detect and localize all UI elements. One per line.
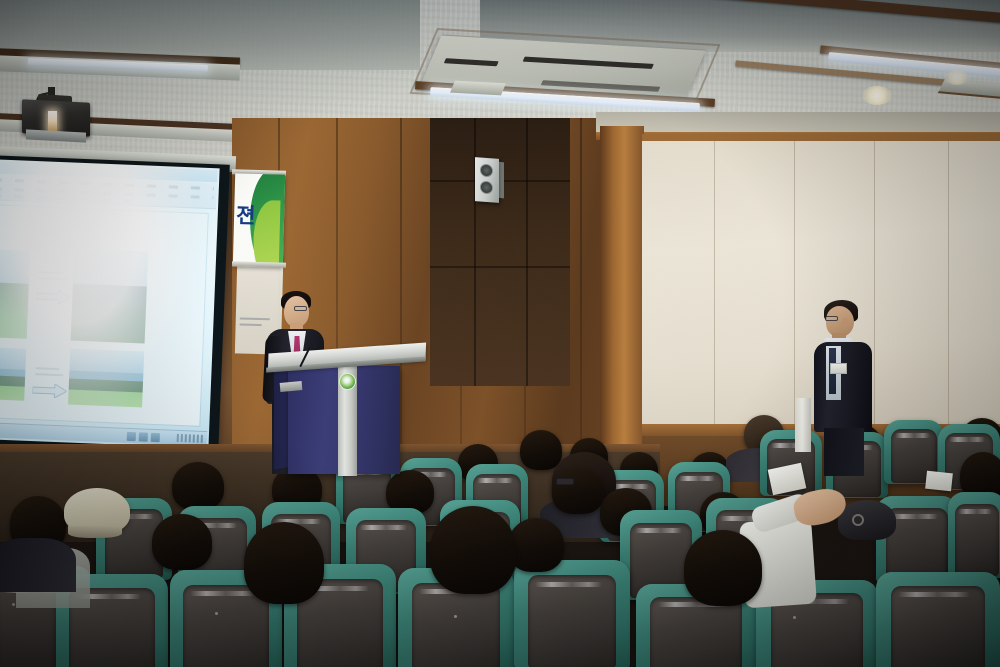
auditorium-seat <box>876 572 1000 667</box>
podium-side-shelf <box>280 381 303 392</box>
projection-screen <box>0 155 230 465</box>
eyeglasses-icon <box>825 316 838 321</box>
ceiling-projector <box>22 95 94 139</box>
podium-emblem-icon <box>339 373 356 390</box>
projector-lens <box>48 111 57 131</box>
eyeglasses-icon <box>556 478 574 485</box>
audience-head <box>552 468 604 514</box>
paper-roll <box>795 398 811 452</box>
attendee-suit-jacket <box>814 342 872 432</box>
photo-top-right <box>71 249 149 344</box>
audience-shoulders <box>0 538 76 592</box>
microphone-icon <box>311 342 317 347</box>
slide-caption-line <box>37 271 63 274</box>
banner-text: 젼 <box>236 199 267 230</box>
name-badge <box>830 363 847 374</box>
photo-top-left <box>0 247 30 338</box>
audience-head <box>684 530 762 606</box>
cap-logo-icon <box>852 514 864 526</box>
attendee-ear <box>842 318 849 327</box>
audience-member-cap-beige <box>64 488 130 534</box>
printed-handout <box>925 471 953 492</box>
transition-arrow-lower-icon <box>32 383 67 398</box>
audience-head <box>172 462 224 510</box>
slide-caption-line <box>35 367 59 370</box>
cap-brim <box>68 526 122 538</box>
attendee-trousers <box>824 428 864 476</box>
slide-caption-line <box>37 277 67 280</box>
standing-attendee-right <box>812 300 880 468</box>
eyeglasses-icon <box>294 306 307 311</box>
auditorium-seat <box>514 560 630 667</box>
presentation-hall-photo: 젼 <box>0 0 1000 667</box>
photo-bottom-right <box>68 349 144 408</box>
podium <box>286 352 410 474</box>
downlight-2 <box>862 86 892 105</box>
audience-head <box>244 522 324 604</box>
slide-taskbar <box>0 422 207 446</box>
photo-bottom-left <box>0 345 26 400</box>
slide-caption-line <box>35 373 63 376</box>
wall-speaker <box>475 157 499 203</box>
wall-pillar <box>600 126 644 466</box>
downlight-3 <box>945 70 969 85</box>
wall-wood-dark-panel <box>430 118 570 386</box>
audience-head <box>508 518 564 572</box>
slide-canvas <box>0 205 208 426</box>
taskbar-clock <box>177 434 203 443</box>
auditorium-seat <box>948 492 1000 578</box>
audience-head <box>430 506 516 594</box>
transition-arrow-upper-icon <box>36 289 71 304</box>
hanging-banner: 젼 <box>233 173 285 267</box>
audience-member-cap-black <box>838 500 896 540</box>
audience-head <box>152 514 212 570</box>
screen-surface <box>0 159 220 448</box>
